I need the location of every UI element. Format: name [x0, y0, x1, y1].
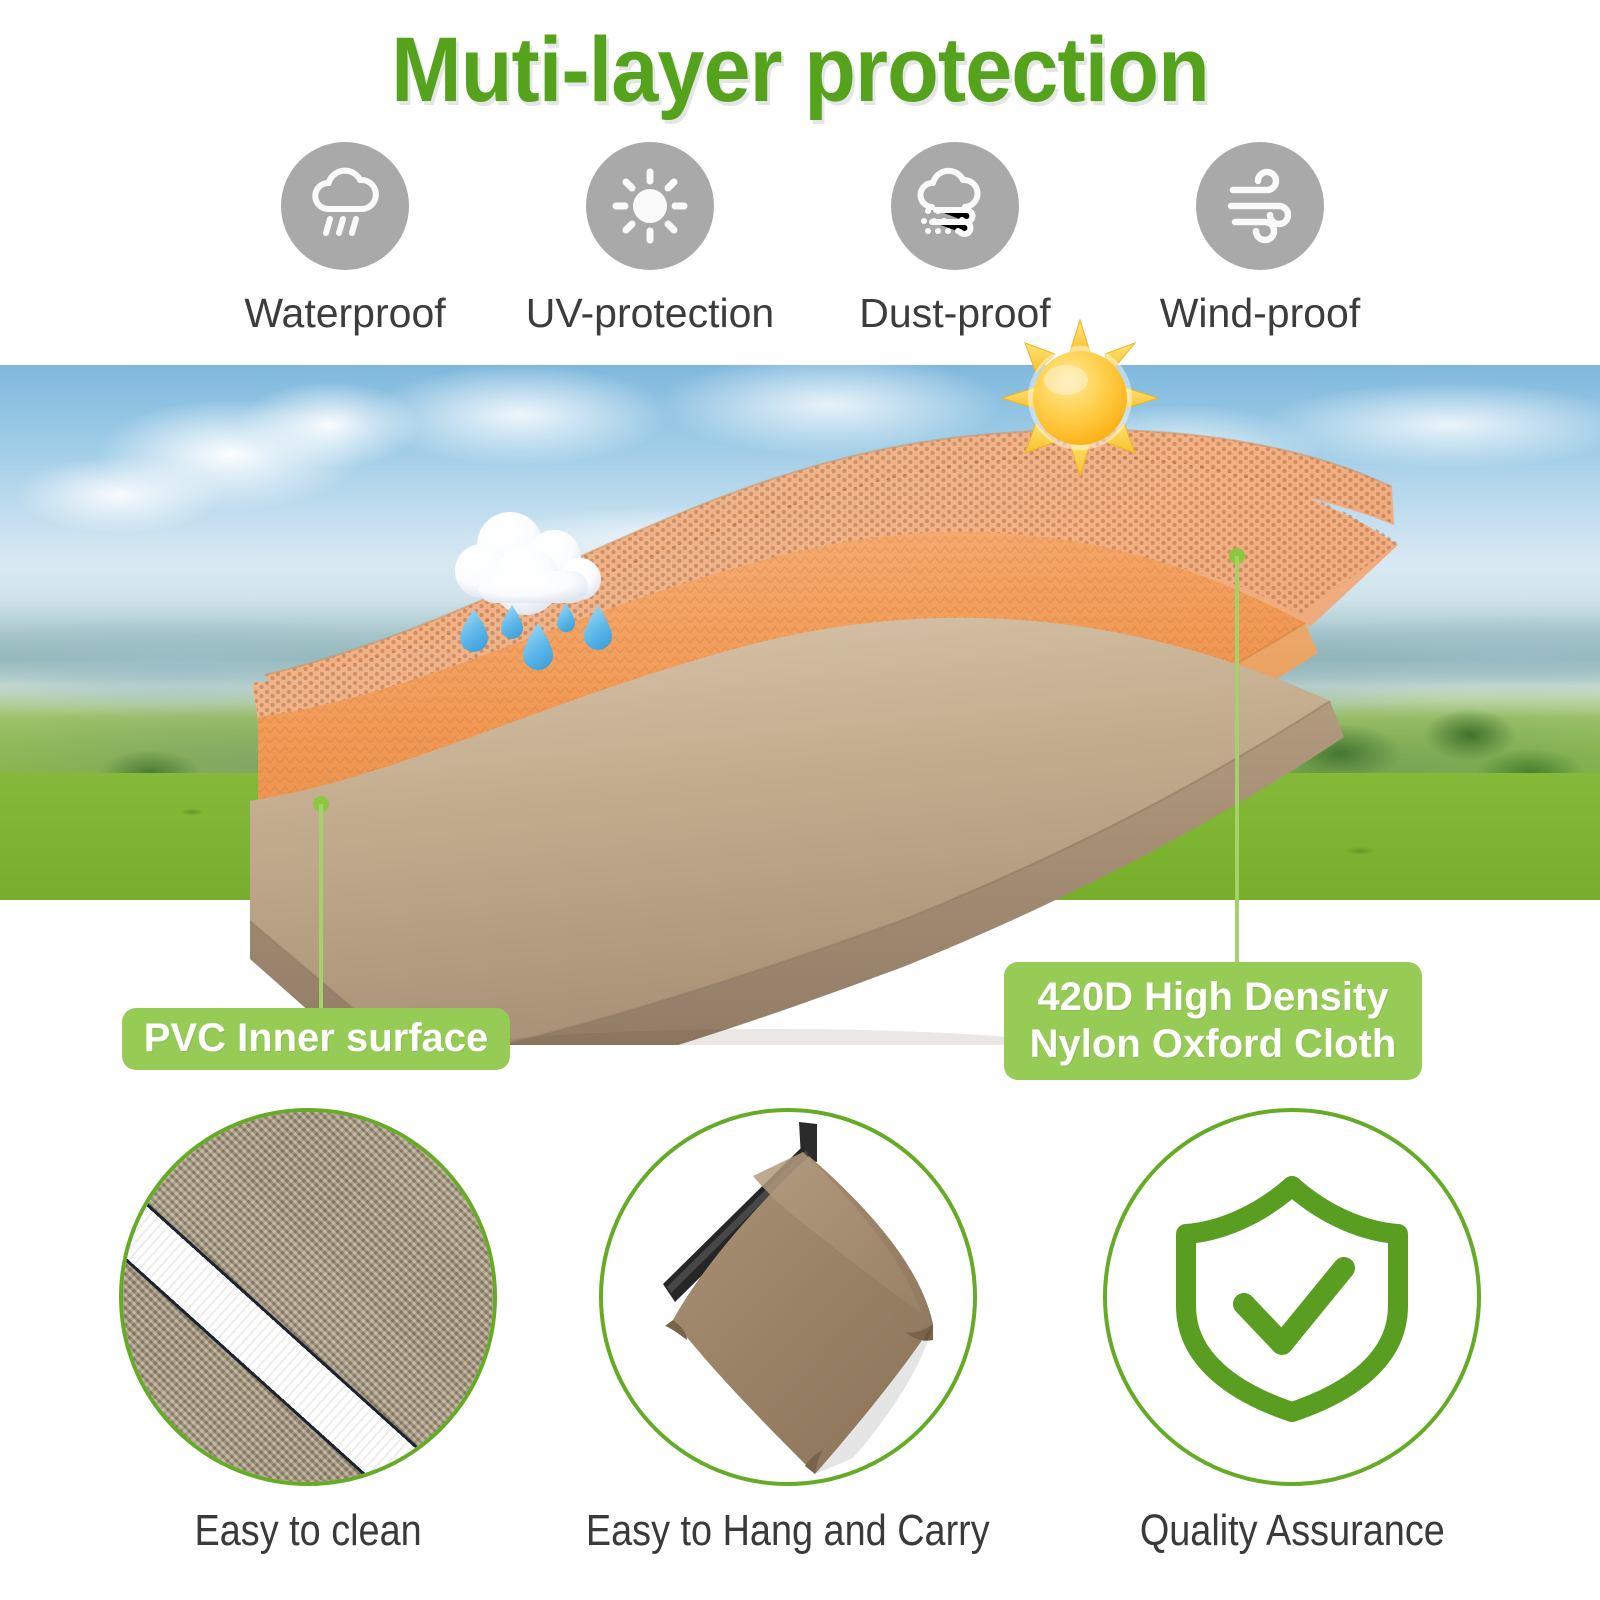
bottom-card-easy-to-clean: Easy to clean [108, 1108, 508, 1600]
product-infographic: Muti-layer protection Waterproof [0, 0, 1600, 1600]
storage-bag-photo [599, 1108, 977, 1486]
feature-label: Waterproof [244, 290, 445, 337]
sun-burst-icon [1000, 318, 1160, 478]
page-title: Muti-layer protection [64, 18, 1536, 123]
bottom-card-quality-assurance: Quality Assurance [1092, 1108, 1492, 1600]
callout-badge-pvc: PVC Inner surface [122, 1008, 510, 1070]
shield-check-icon [1172, 1172, 1412, 1422]
nylon-leader-line [1235, 556, 1239, 966]
feature-item-uv-protection: UV-protection [500, 142, 800, 337]
callout-text-line2: Nylon Oxford Cloth [1030, 1021, 1397, 1068]
card-caption: Easy to clean [194, 1506, 421, 1556]
rain-cloud-3d-icon [438, 505, 628, 685]
pvc-leader-line [319, 804, 323, 1012]
feature-icon-row: Waterproof UV- [195, 142, 1410, 342]
sun-icon [586, 142, 714, 270]
feature-label: Wind-proof [1160, 290, 1361, 337]
feature-item-wind-proof: Wind-proof [1110, 142, 1410, 337]
quality-assurance-circle [1103, 1108, 1481, 1486]
feature-item-waterproof: Waterproof [195, 142, 495, 337]
storage-bag-illustration [603, 1112, 977, 1486]
rain-cloud-icon [281, 142, 409, 270]
bottom-feature-cards: Easy to clean [0, 1108, 1600, 1600]
card-caption: Quality Assurance [1140, 1506, 1445, 1556]
callout-badge-nylon: 420D High Density Nylon Oxford Cloth [1004, 962, 1422, 1080]
feature-label: UV-protection [526, 290, 774, 337]
callout-text-line1: 420D High Density [1030, 974, 1397, 1021]
dust-cloud-icon [891, 142, 1019, 270]
cloud-body [455, 512, 601, 615]
callout-text: PVC Inner surface [144, 1015, 489, 1062]
wind-icon [1196, 142, 1324, 270]
feature-item-dust-proof: Dust-proof [805, 142, 1105, 337]
fabric-weave-photo [119, 1108, 497, 1486]
bottom-card-easy-to-hang: Easy to Hang and Carry [588, 1108, 988, 1600]
card-caption: Easy to Hang and Carry [586, 1506, 990, 1556]
multi-layer-fabric-illustration [0, 365, 1600, 1045]
